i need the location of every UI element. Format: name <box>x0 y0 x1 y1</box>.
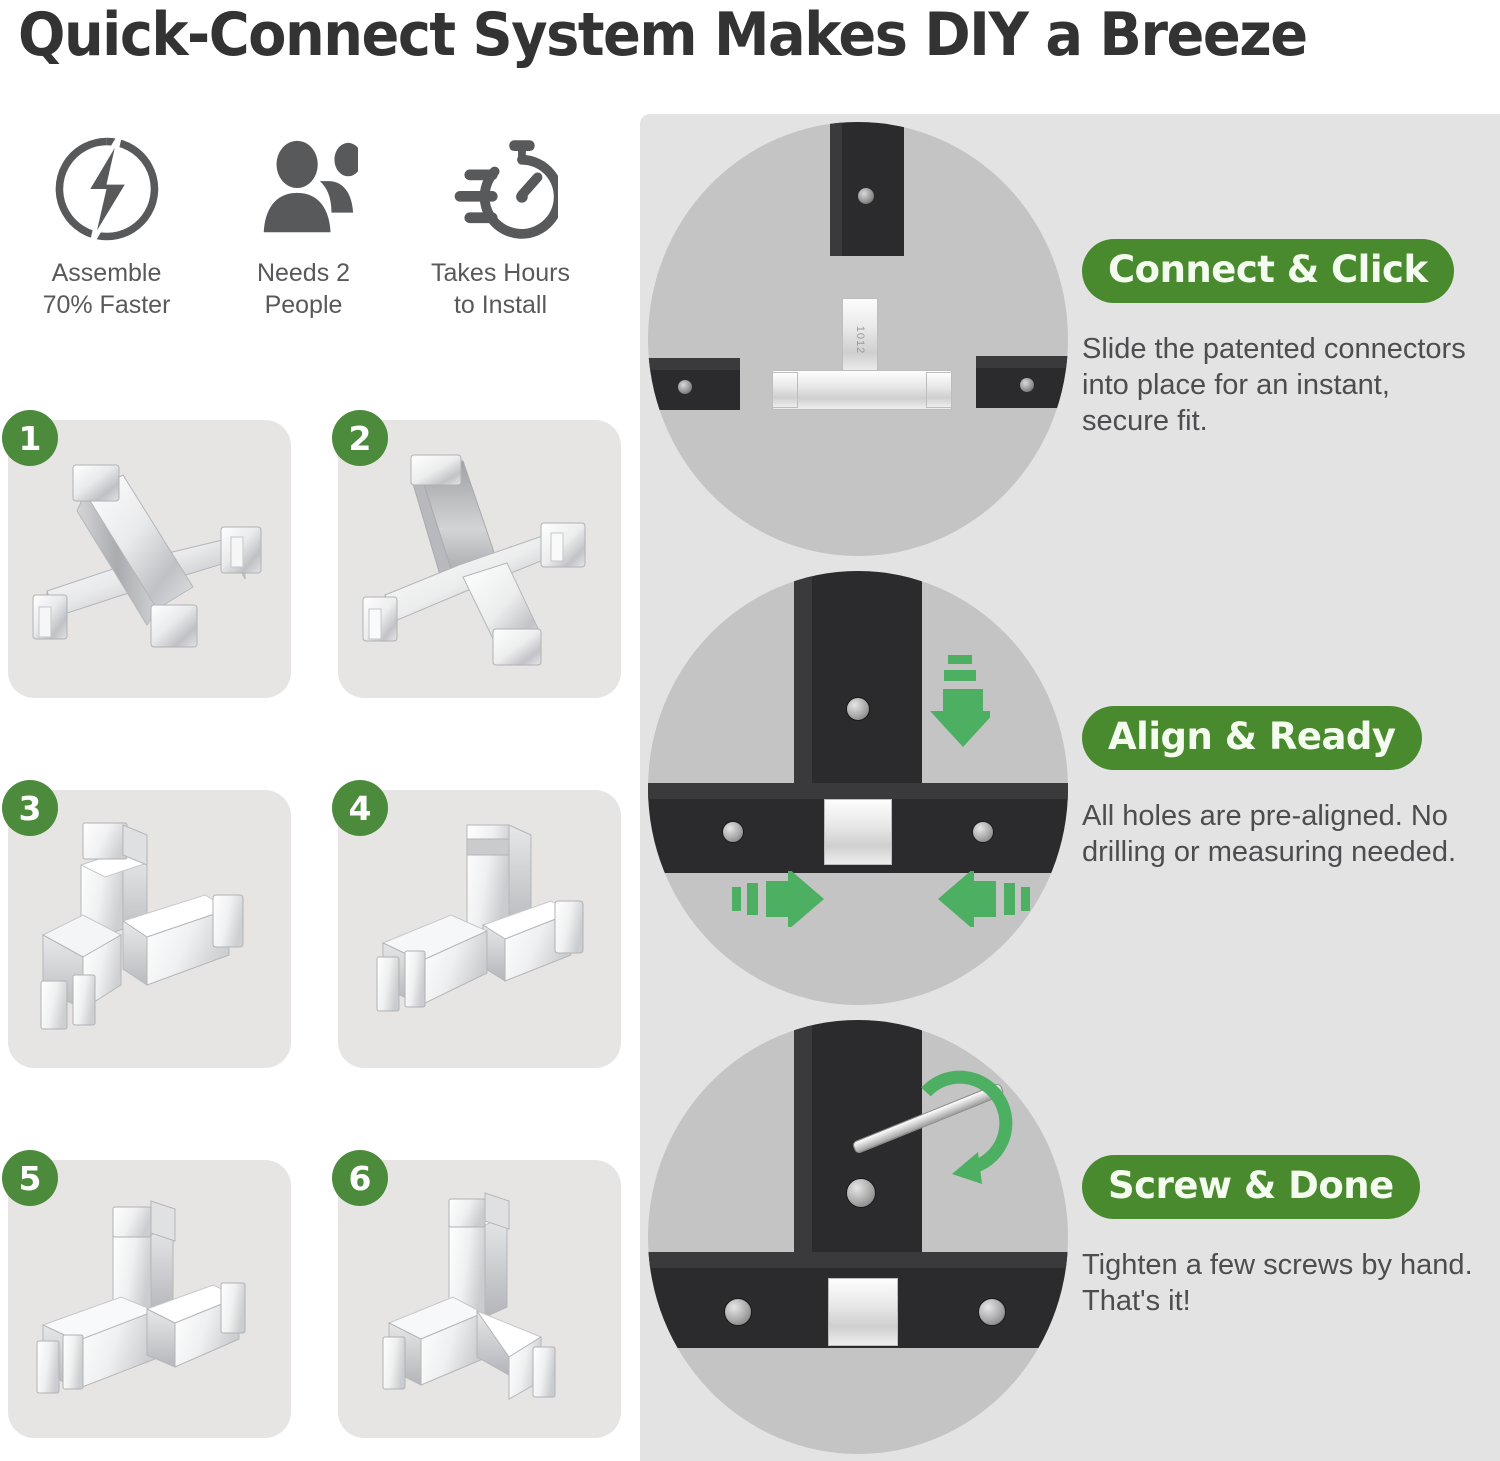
step-tile[interactable]: 5 <box>8 1160 291 1438</box>
feature-text-block: Align & Ready All holes are pre-aligned.… <box>1068 706 1500 870</box>
step-tile[interactable]: 2 <box>338 420 621 698</box>
screw-head <box>846 697 870 721</box>
connector-tab-left <box>772 372 798 408</box>
benefit-label-line1: Assemble <box>52 259 162 287</box>
feature-description: Slide the patented connectors into place… <box>1082 331 1478 439</box>
corner-connector-3way-icon <box>8 790 291 1068</box>
feature-text-block: Connect & Click Slide the patented conne… <box>1068 239 1500 439</box>
pre-drilled-hole <box>678 380 692 394</box>
feature-row-screw-done: Screw & Done Tighten a few screws by han… <box>640 1012 1500 1461</box>
step-tile[interactable]: 6 <box>338 1160 621 1438</box>
connector-joint <box>828 1278 898 1346</box>
tee-connector-exploded-photo: 1012 <box>648 122 1068 556</box>
black-bar-vertical-edge <box>830 122 842 256</box>
feature-row-connect-click: 1012 Connect & Click Slide the patented … <box>640 114 1500 563</box>
benefit-item-needs-two-people: Needs 2 People <box>205 135 402 321</box>
step-tile[interactable]: 4 <box>338 790 621 1068</box>
screw-head <box>978 1298 1006 1326</box>
black-bar-vertical-edge <box>794 571 812 791</box>
connector-crossbar <box>772 370 952 410</box>
part-code-label: 1012 <box>854 325 866 353</box>
step-tile[interactable]: 3 <box>8 790 291 1068</box>
benefit-label: Takes Hours to Install <box>431 257 570 321</box>
feature-description: All holes are pre-aligned. No drilling o… <box>1082 798 1478 870</box>
stopwatch-speed-icon <box>443 135 558 243</box>
step-number-badge: 4 <box>332 780 388 836</box>
corner-connector-3way-upright-icon <box>338 1160 621 1438</box>
black-bar-vertical-edge <box>794 1020 812 1258</box>
two-people-icon <box>250 135 358 243</box>
pre-drilled-hole <box>1020 378 1034 392</box>
benefit-label: Assemble 70% Faster <box>43 257 171 321</box>
connector-joint <box>824 799 892 865</box>
screw-head-driven <box>846 1178 876 1208</box>
connector-tab-right <box>926 372 952 408</box>
black-bar-horizontal-edge <box>648 783 1068 799</box>
infographic-root: Quick-Connect System Makes DIY a Breeze … <box>0 0 1500 1461</box>
corner-connector-3way-open-icon <box>338 790 621 1068</box>
feature-text-block: Screw & Done Tighten a few screws by han… <box>1068 1155 1500 1319</box>
feature-description: Tighten a few screws by hand. That's it! <box>1082 1247 1478 1319</box>
pre-drilled-hole <box>858 188 874 204</box>
screw-head <box>972 821 994 843</box>
tee-connector-3way-icon <box>8 1160 291 1438</box>
screw-head <box>722 821 744 843</box>
step-number-badge: 3 <box>2 780 58 836</box>
benefit-label-line2: to Install <box>454 291 547 319</box>
step-number-badge: 2 <box>332 410 388 466</box>
step-number-badge: 5 <box>2 1150 58 1206</box>
black-bar-horizontal-edge <box>648 1252 1068 1268</box>
black-bar-right-edge <box>976 356 1068 368</box>
step-tile[interactable]: 1 <box>8 420 291 698</box>
benefit-label: Needs 2 People <box>257 257 350 321</box>
step-number-badge: 1 <box>2 410 58 466</box>
benefit-label-line2: 70% Faster <box>43 291 171 319</box>
aligned-frame-with-arrows-photo <box>648 571 1068 1005</box>
left-column: Assemble 70% Faster Needs 2 People <box>0 0 640 1461</box>
feature-badge: Connect & Click <box>1082 239 1454 303</box>
arrow-right-icon <box>732 871 842 927</box>
benefit-item-takes-hours: Takes Hours to Install <box>402 135 599 321</box>
step-number-badge: 6 <box>332 1150 388 1206</box>
feature-badge: Screw & Done <box>1082 1155 1420 1219</box>
feature-badge: Align & Ready <box>1082 706 1422 770</box>
right-features-panel: 1012 Connect & Click Slide the patented … <box>640 114 1500 1461</box>
benefits-row: Assemble 70% Faster Needs 2 People <box>8 135 608 321</box>
benefit-item-assemble-faster: Assemble 70% Faster <box>8 135 205 321</box>
hex-key-tightening-screw-photo <box>648 1020 1068 1454</box>
benefit-label-line1: Takes Hours <box>431 259 570 287</box>
lightning-bolt-circle-icon <box>53 135 161 243</box>
cross-connector-4way-icon <box>8 420 291 698</box>
feature-row-align-ready: Align & Ready All holes are pre-aligned.… <box>640 563 1500 1012</box>
benefit-label-line2: People <box>265 291 343 319</box>
rotate-arrow-icon <box>908 1070 1028 1190</box>
arrow-down-icon <box>930 655 990 755</box>
benefit-label-line1: Needs 2 <box>257 259 350 287</box>
black-bar-left-edge <box>648 358 740 370</box>
steps-grid: 1 <box>8 420 628 1438</box>
black-bar-vertical <box>794 571 922 791</box>
cross-connector-4way-angled-icon <box>338 420 621 698</box>
arrow-left-icon <box>920 871 1030 927</box>
screw-head <box>724 1298 752 1326</box>
